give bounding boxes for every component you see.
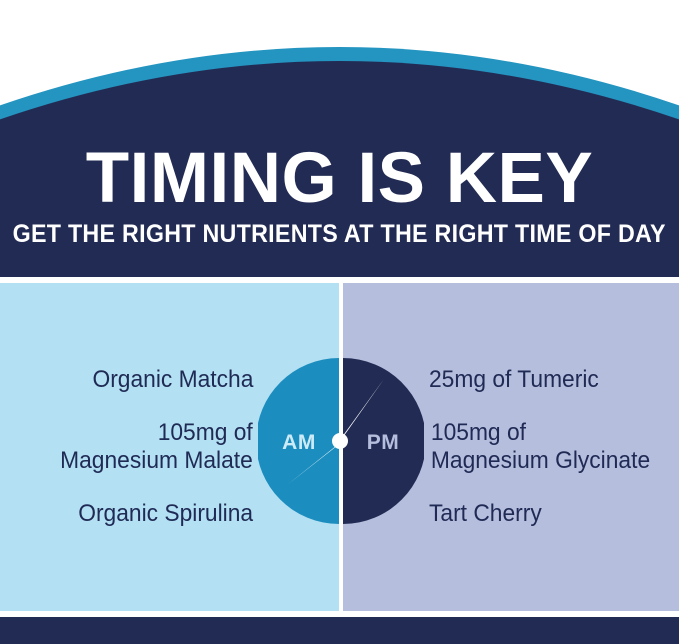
panel-pm: 25mg of Tumeric 105mg of Magnesium Glyci… [343, 283, 679, 611]
arc-inner-navy [0, 61, 679, 277]
am-list-item: Organic Spirulina [78, 500, 253, 528]
am-ingredient-list: Organic Matcha 105mg of Magnesium Malate… [8, 283, 253, 611]
am-pm-panels: Organic Matcha 105mg of Magnesium Malate… [0, 283, 679, 611]
footer-bar [0, 617, 679, 644]
header-arc-shapes [0, 0, 679, 277]
panel-am: Organic Matcha 105mg of Magnesium Malate… [0, 283, 339, 611]
am-list-item: 105mg of Magnesium Malate [60, 419, 253, 475]
pm-list-item: 105mg of Magnesium Glycinate [429, 419, 650, 475]
header-banner: TIMING IS KEY GET THE RIGHT NUTRIENTS AT… [0, 0, 679, 277]
am-list-item: Organic Matcha [92, 366, 253, 394]
infographic-root: TIMING IS KEY GET THE RIGHT NUTRIENTS AT… [0, 0, 679, 644]
pm-list-item: 25mg of Tumeric [429, 366, 599, 394]
pm-ingredient-list: 25mg of Tumeric 105mg of Magnesium Glyci… [429, 283, 673, 611]
pm-list-item: Tart Cherry [429, 500, 542, 528]
